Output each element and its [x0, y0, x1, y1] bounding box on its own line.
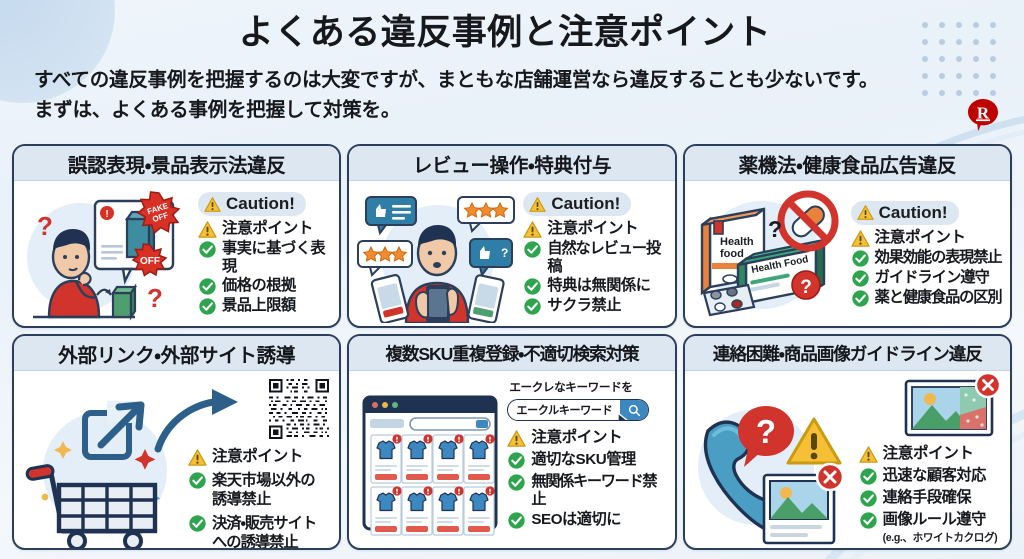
- checklist-item: 画像ルール遵守: [859, 511, 1004, 530]
- checklist-item-label: サクラ禁止: [547, 297, 621, 315]
- illustration-health-food-boxes-no-pills: Health food Health Food: [689, 185, 849, 323]
- product-tile[interactable]: [464, 486, 495, 535]
- check-circle-icon: [851, 249, 870, 268]
- checklist-item: ガイドライン遵守: [851, 269, 1004, 288]
- question-mark: ?: [147, 283, 163, 313]
- card-body: Health food Health Food: [685, 181, 1010, 327]
- checklist-item: 効果効能の表現禁止: [851, 249, 1004, 268]
- box-label-health: Health: [720, 236, 754, 248]
- product-tile[interactable]: [464, 434, 495, 483]
- card-misleading-expression[interactable]: 誤認表現・景品表示法違反 !: [12, 144, 341, 328]
- violation-cards-grid: 誤認表現・景品表示法違反 !: [12, 144, 1012, 550]
- warning-triangle-icon: [859, 445, 878, 464]
- checklist-item-label: 注意ポイント: [222, 220, 313, 238]
- checklist-item: 適切なSKU管理: [507, 451, 668, 470]
- box-label-food: food: [720, 248, 744, 260]
- checklist-item-label: 注意ポイント: [547, 220, 638, 238]
- checklist-item-label: 注意ポイント: [531, 429, 622, 447]
- cursor-pointer-icon: [616, 412, 636, 421]
- card-title: 複数SKU重複登録・不適切検索対策: [385, 341, 638, 366]
- page-subtitle-line2: まずは、よくある事例を把握して対策を。: [34, 96, 984, 126]
- svg-text:?: ?: [501, 246, 508, 260]
- card-header: レビュー操作・特典付与: [349, 146, 674, 181]
- card-title: 誤認表現・景品表示法違反: [68, 149, 286, 178]
- checklist: Caution! 注意ポイント 自然なレビュー投稿: [521, 185, 668, 323]
- product-tile[interactable]: [371, 434, 402, 483]
- product-tile[interactable]: [402, 434, 433, 483]
- card-header: 外部リンク・外部サイト誘導: [14, 336, 339, 371]
- check-circle-icon: [523, 277, 542, 296]
- search-label: エークレなキーワードを: [509, 379, 668, 395]
- checklist-item-label: 画像ルール遵守: [883, 511, 986, 529]
- card-review-manipulation[interactable]: レビュー操作・特典付与: [347, 144, 676, 328]
- card-body: ! FAKE OFF: [14, 181, 339, 327]
- checklist-item: 自然なレビュー投稿: [523, 240, 668, 275]
- checklist-item: 注意ポイント: [859, 445, 1004, 464]
- search-input[interactable]: エークルキーワード: [508, 402, 620, 418]
- card-external-link[interactable]: 外部リンク・外部サイト誘導: [12, 334, 341, 550]
- check-circle-icon: [523, 297, 542, 316]
- page-header: よくある違反事例と注意ポイント すべての違反事例を把握するのは大変ですが、まとも…: [0, 0, 1024, 126]
- checklist-item-label: 無関係キーワード禁止: [531, 473, 668, 508]
- card-contact-image-guideline[interactable]: 連絡困難・商品画像ガイドライン違反 ?: [683, 334, 1012, 550]
- checklist-item-label: 注意ポイント: [875, 229, 966, 247]
- card-body: ?: [685, 371, 1010, 549]
- card-title: 薬機法・健康食品広告違反: [739, 149, 957, 178]
- card-header: 薬機法・健康食品広告違反: [685, 146, 1010, 181]
- product-tile[interactable]: [371, 486, 402, 535]
- question-mark: ?: [37, 211, 53, 241]
- check-circle-icon: [859, 467, 878, 486]
- check-circle-icon: [523, 240, 542, 259]
- check-circle-icon: [198, 240, 217, 259]
- question-mark: ?: [768, 216, 782, 242]
- caution-badge: Caution!: [198, 192, 306, 216]
- warning-triangle-icon: [857, 204, 874, 221]
- checklist-item: 景品上限額: [198, 297, 333, 316]
- svg-text:!: !: [105, 209, 108, 220]
- checklist-item: 連絡手段確保: [859, 489, 1004, 508]
- check-circle-icon: [198, 297, 217, 316]
- checklist: Caution! 注意ポイント 効果効能の表現禁止: [849, 185, 1004, 323]
- checklist: 注意ポイント 迅速な顧客対応 連絡手段確保: [857, 375, 1004, 545]
- product-tile[interactable]: [433, 434, 464, 483]
- checklist-item: 注意ポイント: [507, 429, 668, 448]
- warning-triangle-icon: [204, 196, 221, 213]
- checklist-item-label: 価格の根拠: [222, 277, 296, 295]
- check-circle-icon: [851, 269, 870, 288]
- check-circle-icon: [507, 473, 526, 492]
- checklist-item-label: 決済・販売サイト への誘導禁止: [212, 514, 316, 550]
- product-tile[interactable]: [433, 486, 464, 535]
- page-subtitle: すべての違反事例を把握するのは大変ですが、まともな店舗運営なら違反することも少な…: [34, 66, 984, 125]
- card-duplicate-sku[interactable]: 複数SKU重複登録・不適切検索対策: [347, 334, 676, 550]
- checklist: エークレなキーワードを エークルキーワード: [505, 375, 668, 545]
- warning-triangle-icon: [198, 220, 217, 239]
- checklist-item-label: 特典は無関係に: [547, 277, 650, 295]
- caution-label: Caution!: [551, 194, 620, 214]
- warning-triangle-icon: [507, 429, 526, 448]
- warning-triangle-icon: [851, 229, 870, 248]
- check-circle-icon: [851, 289, 870, 308]
- checklist-item: 楽天市場以外の 誘導禁止: [188, 471, 333, 509]
- warning-triangle-icon: [529, 196, 546, 213]
- page-subtitle-line1: すべての違反事例を把握するのは大変ですが、まともな店舗運営なら違反することも少な…: [34, 66, 984, 96]
- checklist-item: 価格の根拠: [198, 277, 333, 296]
- curved-arrow-icon: [152, 389, 252, 455]
- card-pharma-health-ads[interactable]: 薬機法・健康食品広告違反 Health food: [683, 144, 1012, 328]
- rejected-image-card: [764, 464, 843, 543]
- checklist-item-label: 適切なSKU管理: [531, 451, 635, 469]
- page-title: よくある違反事例と注意ポイント: [34, 12, 984, 53]
- check-circle-icon: [188, 471, 207, 490]
- checklist-item: 無関係キーワード禁止: [507, 473, 668, 508]
- card-body: エークレなキーワードを エークルキーワード: [349, 371, 674, 549]
- caution-label: Caution!: [226, 194, 295, 214]
- checklist-item-label: ガイドライン遵守: [875, 269, 989, 287]
- card-title: 外部リンク・外部サイト誘導: [58, 339, 295, 368]
- check-circle-icon: [507, 451, 526, 470]
- card-header: 連絡困難・商品画像ガイドライン違反: [685, 336, 1010, 371]
- rakuten-logo: R: [966, 98, 1000, 132]
- check-circle-icon: [188, 514, 207, 533]
- qr-code-icon: [267, 377, 331, 441]
- card-header: 誤認表現・景品表示法違反: [14, 146, 339, 181]
- warning-triangle-icon: [523, 220, 542, 239]
- check-circle-icon: [859, 489, 878, 508]
- checklist-item: 注意ポイント: [851, 229, 1004, 248]
- checklist-item-label: 楽天市場以外の 誘導禁止: [212, 471, 315, 509]
- checklist-item: SEOは適切に: [507, 511, 668, 530]
- check-circle-icon: [507, 511, 526, 530]
- checklist: Caution! 注意ポイント 事実に基づく表現: [196, 185, 333, 323]
- rejected-image-thumb: [859, 373, 1004, 439]
- checklist-item: 注意ポイント: [523, 220, 668, 239]
- caution-label: Caution!: [879, 203, 948, 223]
- card-header: 複数SKU重複登録・不適切検索対策: [349, 336, 674, 371]
- checklist-item-label: 自然なレビュー投稿: [547, 240, 668, 275]
- card-title: レビュー操作・特典付与: [413, 149, 611, 178]
- illustration-browser-duplicate-listings: [353, 375, 505, 545]
- image-rejected-icon: [904, 373, 1004, 439]
- product-tile[interactable]: [402, 486, 433, 535]
- checklist-item-label: 連絡手段確保: [883, 489, 971, 507]
- svg-text:?: ?: [756, 413, 776, 450]
- checklist-item: 注意ポイント: [198, 220, 333, 239]
- checklist-item-label: SEOは適切に: [531, 511, 621, 529]
- check-circle-icon: [198, 277, 217, 296]
- checklist-item: 決済・販売サイト への誘導禁止: [188, 514, 333, 550]
- illustration-person-thinking-fake-discount: ! FAKE OFF: [18, 185, 196, 323]
- checklist-item: 事実に基づく表現: [198, 240, 333, 275]
- checklist-item-label: 薬と健康食品の区別: [875, 289, 1002, 307]
- checklist-item: 薬と健康食品の区別: [851, 289, 1004, 308]
- checklist-item-label: 注意ポイント: [883, 445, 974, 463]
- badge-off-2: OFF: [140, 256, 160, 267]
- svg-text:?: ?: [800, 277, 812, 298]
- checklist-item-label: 事実に基づく表現: [222, 240, 333, 275]
- illustration-person-with-phone-reviews: ?: [353, 185, 521, 323]
- check-circle-icon: [859, 511, 878, 530]
- caution-badge: Caution!: [851, 201, 959, 225]
- illustration-phone-rejected-images: ?: [689, 375, 857, 545]
- card-body: ?: [349, 181, 674, 327]
- checklist-item-label: 効果効能の表現禁止: [875, 249, 1002, 267]
- checklist-item: 特典は無関係に: [523, 277, 668, 296]
- card-title: 連絡困難・商品画像ガイドライン違反: [713, 341, 982, 366]
- checklist-item-label: 景品上限額: [222, 297, 296, 315]
- pill-blister-pack: [704, 285, 754, 315]
- checklist-item: サクラ禁止: [523, 297, 668, 316]
- checklist-note: (e.g.、ホワイトカクログ): [859, 530, 1004, 545]
- checklist-item: 迅速な顧客対応: [859, 467, 1004, 486]
- search-box[interactable]: エークルキーワード: [507, 399, 649, 421]
- caution-badge: Caution!: [523, 192, 631, 216]
- card-body: 注意ポイント 楽天市場以外の 誘導禁止 決済・販売サイト への誘導禁止: [14, 371, 339, 550]
- checklist-item-label: 迅速な顧客対応: [883, 467, 986, 485]
